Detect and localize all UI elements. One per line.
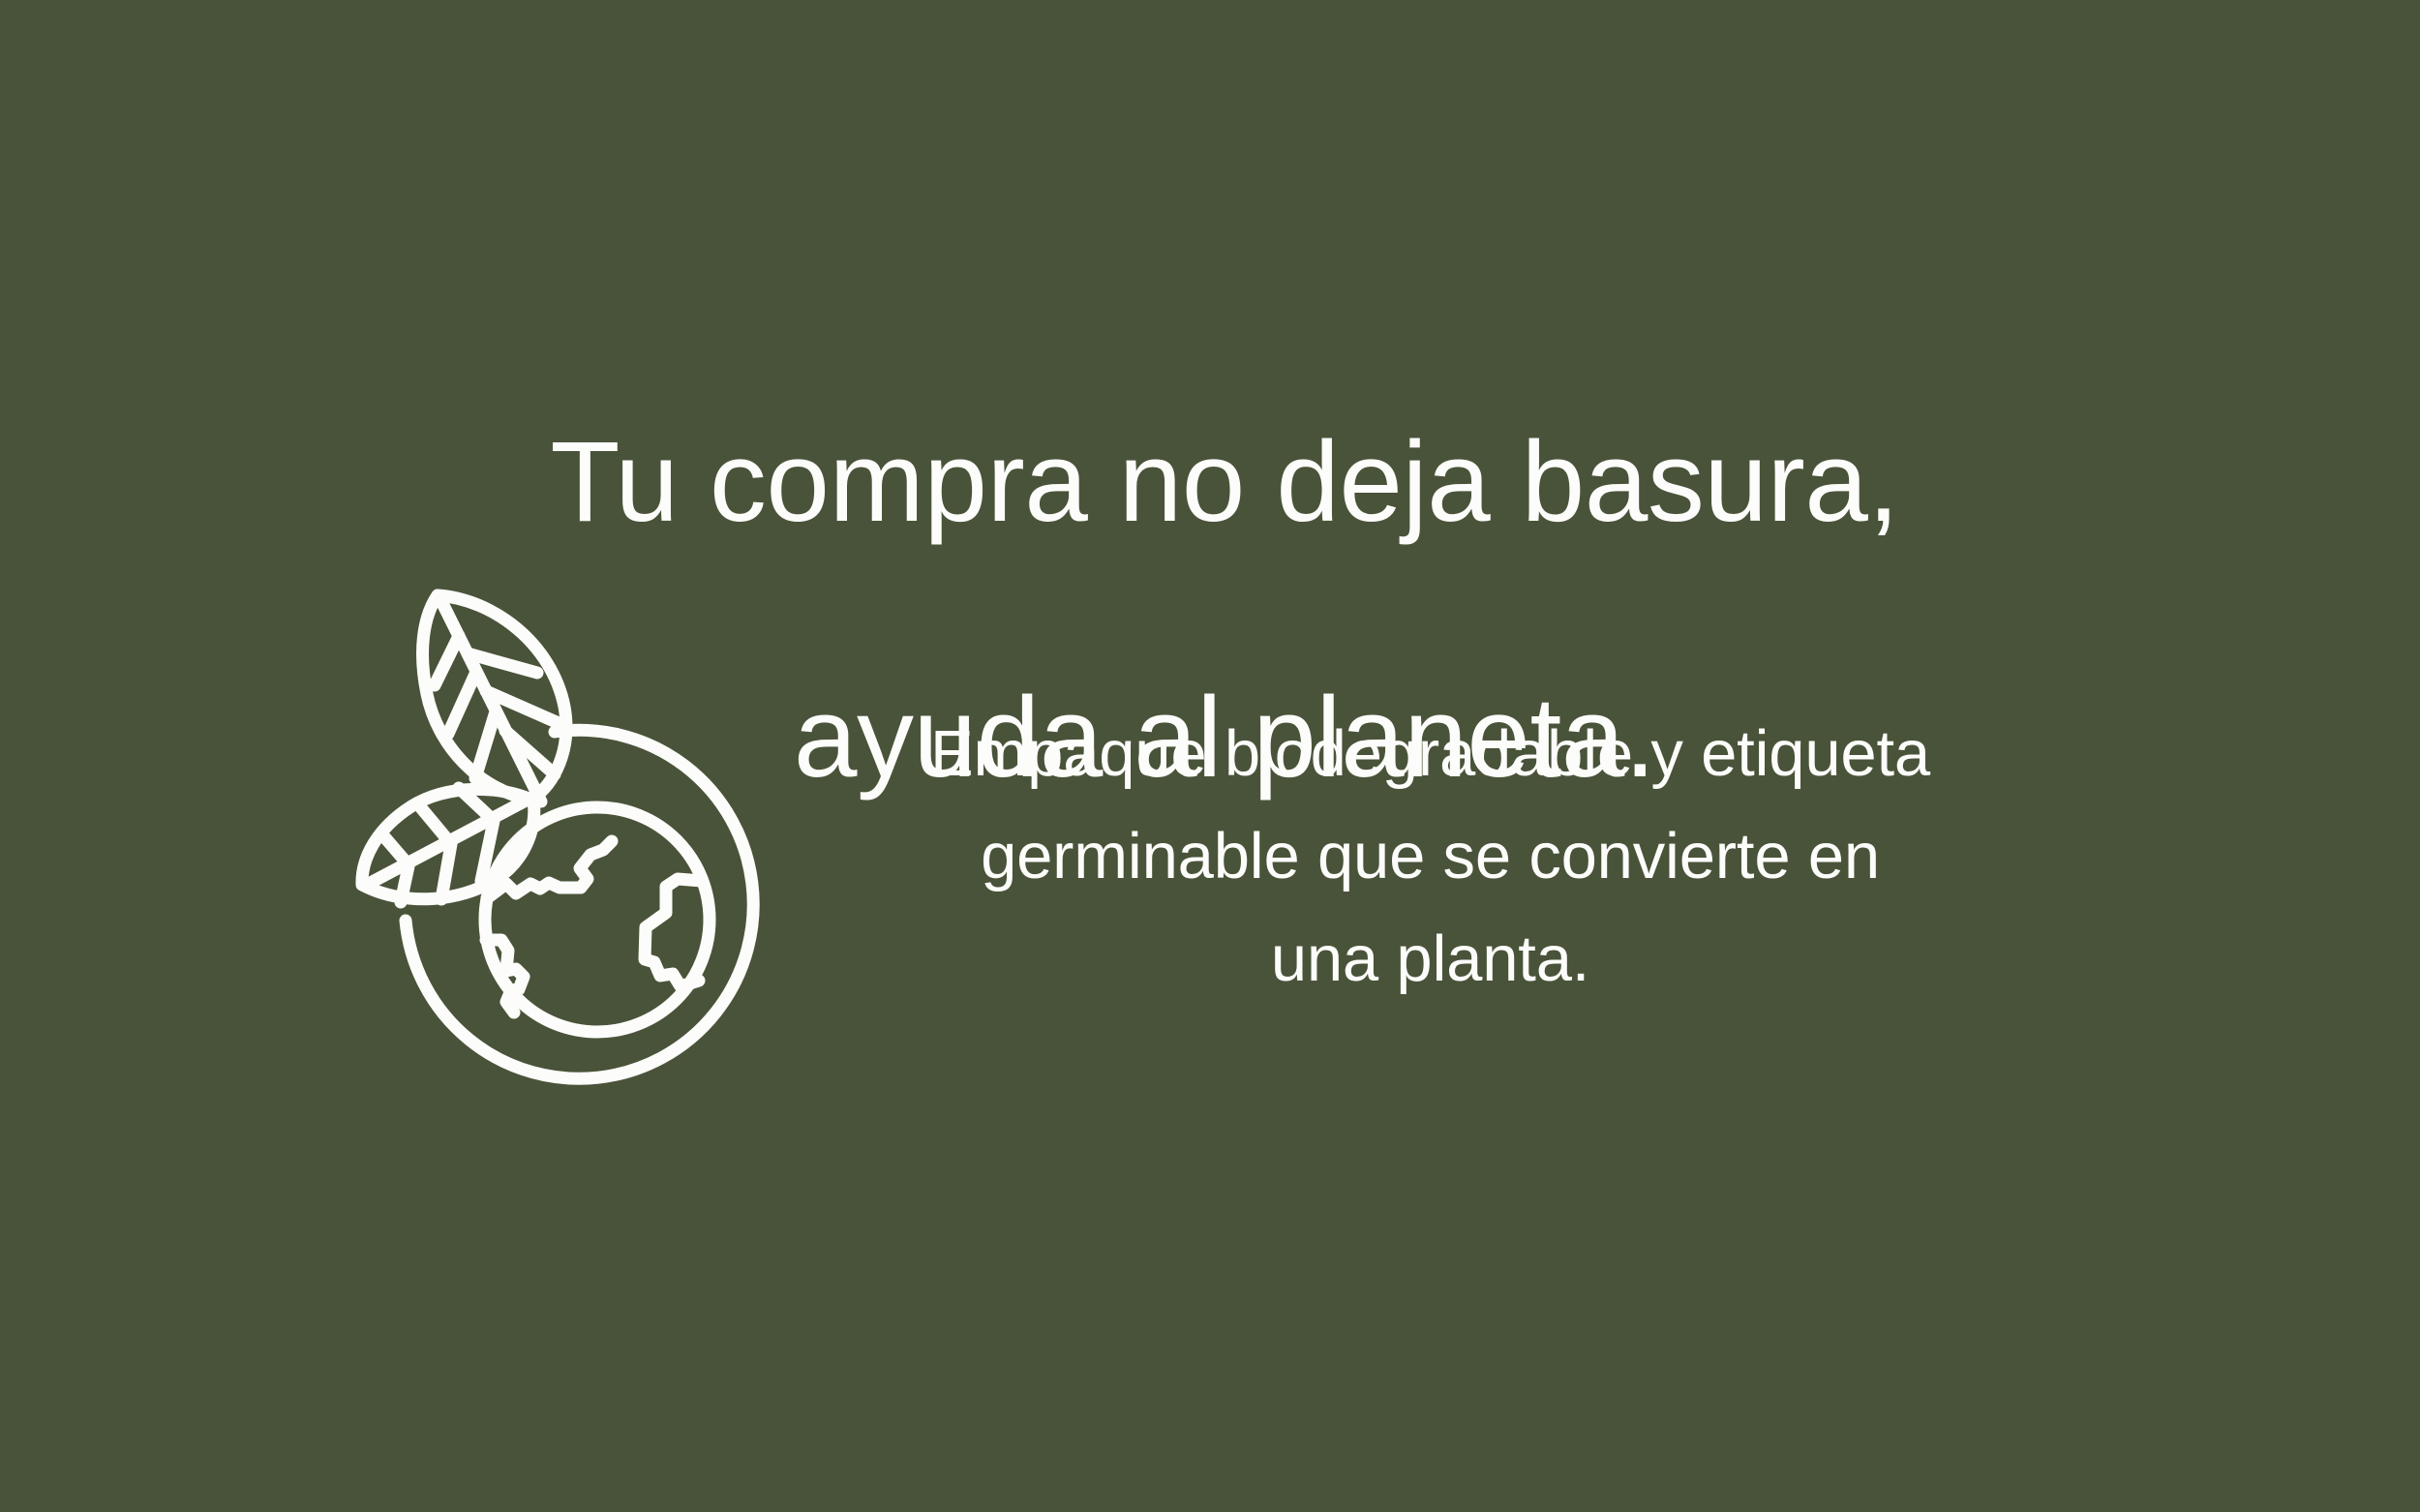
leaf-lower-vein-3-icon [381,833,406,862]
globe-with-leaves-illustration [358,576,794,1118]
body-description: Empaque biodegradable y etiqueta germina… [828,703,2033,1011]
eco-promo-banner: Tu compra no deja basura, ayuda al plane… [0,0,2420,1512]
leaf-lower-vein-2-icon [418,804,447,839]
globe-circle-icon [485,807,710,1032]
body-line-3: una planta. [828,908,2033,1011]
leaf-upper-vein-2-icon [448,672,476,734]
globe-with-leaves-icon [358,576,794,1118]
leaf-upper-vein-1-icon [435,636,459,685]
headline-line-1: Tu compra no deja basura, [0,418,2420,546]
body-line-2: germinable que se convierte en [828,805,2033,908]
body-line-1: Empaque biodegradable y etiqueta [828,703,2033,805]
leaf-upper-vein-3-icon [475,711,496,778]
leaf-lower-vein-6-icon [401,866,408,902]
